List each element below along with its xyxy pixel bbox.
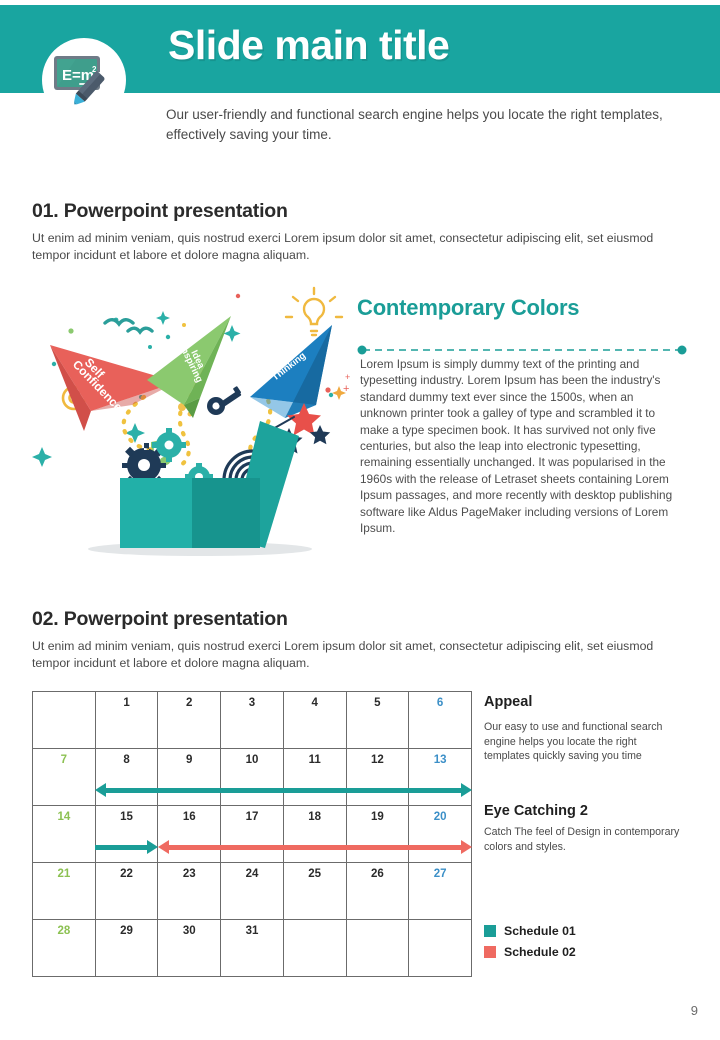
calendar-day-cell[interactable]: 19: [346, 806, 409, 863]
eye-catching-title: Eye Catching 2: [484, 803, 588, 819]
schedule-legend: Schedule 01Schedule 02: [484, 920, 576, 962]
legend-item: Schedule 02: [484, 941, 576, 962]
calendar-day-cell[interactable]: 27: [409, 863, 472, 920]
dashed-divider: [357, 342, 687, 352]
calendar-day-number: 13: [409, 754, 471, 766]
calendar-row: 14151617181920: [33, 806, 472, 863]
calendar-day-number: 17: [221, 811, 283, 823]
arrow-head-right: [147, 840, 158, 854]
calendar-day-number: 5: [347, 697, 409, 709]
calendar-day-number: 27: [409, 868, 471, 880]
calendar-day-cell[interactable]: 23: [158, 863, 221, 920]
schedule-01-bar-row2: [95, 783, 472, 797]
calendar-row: 28293031: [33, 920, 472, 977]
schedule-01-bar-row3: [95, 840, 158, 854]
calendar-day-cell[interactable]: 17: [221, 806, 284, 863]
appeal-title: Appeal: [484, 694, 532, 710]
calendar-day-number: 16: [158, 811, 220, 823]
blackboard-emc2-icon: E=mc 2: [52, 50, 118, 114]
calendar-day-number: 20: [409, 811, 471, 823]
legend-label: Schedule 02: [504, 945, 576, 959]
calendar-day-cell[interactable]: 26: [346, 863, 409, 920]
arrow-head-left: [158, 840, 169, 854]
calendar-day-cell[interactable]: 5: [346, 692, 409, 749]
calendar-day-cell[interactable]: 4: [283, 692, 346, 749]
calendar-day-number: 9: [158, 754, 220, 766]
arrow-shaft: [95, 845, 149, 850]
calendar-day-cell[interactable]: 28: [33, 920, 96, 977]
calendar-day-number: 11: [284, 754, 346, 766]
calendar-day-cell[interactable]: 24: [221, 863, 284, 920]
arrow-head-right: [461, 783, 472, 797]
calendar-day-cell[interactable]: 29: [95, 920, 158, 977]
calendar-day-cell[interactable]: 1: [95, 692, 158, 749]
arrow-shaft: [167, 845, 463, 850]
creative-box-paper-planes-illustration: Self Confidence Inspiring Idea Creative …: [32, 285, 357, 560]
arrow-head-right: [461, 840, 472, 854]
calendar-empty-cell: [346, 920, 409, 977]
schedule-02-bar-row3: [158, 840, 472, 854]
calendar-day-number: 10: [221, 754, 283, 766]
appeal-body: Our easy to use and functional search en…: [484, 720, 684, 764]
calendar-day-number: 26: [347, 868, 409, 880]
calendar-day-number: 14: [33, 811, 95, 823]
eye-catching-body: Catch The feel of Design in contemporary…: [484, 825, 684, 854]
calendar-day-number: 1: [96, 697, 158, 709]
calendar-day-cell[interactable]: 6: [409, 692, 472, 749]
decorative-plus-icon-2: +: [343, 383, 349, 395]
calendar-day-number: 30: [158, 925, 220, 937]
calendar-day-cell[interactable]: 20: [409, 806, 472, 863]
calendar-empty-cell: [409, 920, 472, 977]
section-02-heading: 02. Powerpoint presentation: [32, 608, 288, 631]
calendar-day-cell[interactable]: 2: [158, 692, 221, 749]
calendar-day-cell[interactable]: 7: [33, 749, 96, 806]
section-02-body: Ut enim ad minim veniam, quis nostrud ex…: [32, 638, 692, 672]
section-01-heading: 01. Powerpoint presentation: [32, 200, 288, 223]
page-number: 9: [691, 1003, 698, 1018]
calendar-day-number: 28: [33, 925, 95, 937]
calendar-day-number: 2: [158, 697, 220, 709]
calendar-day-number: 6: [409, 697, 471, 709]
calendar-empty-cell: [283, 920, 346, 977]
calendar-day-number: 31: [221, 925, 283, 937]
calendar-day-cell[interactable]: 14: [33, 806, 96, 863]
calendar-row: 21222324252627: [33, 863, 472, 920]
legend-swatch-icon: [484, 925, 496, 937]
calendar-day-number: 12: [347, 754, 409, 766]
calendar-day-number: 24: [221, 868, 283, 880]
calendar-day-number: 21: [33, 868, 95, 880]
arrow-head-left: [95, 783, 106, 797]
arrow-shaft: [104, 788, 463, 793]
calendar-day-cell[interactable]: 15: [95, 806, 158, 863]
legend-label: Schedule 01: [504, 924, 576, 938]
section-01-body: Ut enim ad minim veniam, quis nostrud ex…: [32, 230, 692, 264]
calendar-day-number: 23: [158, 868, 220, 880]
calendar-day-number: 18: [284, 811, 346, 823]
legend-item: Schedule 01: [484, 920, 576, 941]
calendar-row: 123456: [33, 692, 472, 749]
calendar-day-number: 29: [96, 925, 158, 937]
calendar-empty-cell: [33, 692, 96, 749]
header-subtitle: Our user-friendly and functional search …: [166, 105, 686, 145]
calendar-day-cell[interactable]: 31: [221, 920, 284, 977]
contemporary-colors-title: Contemporary Colors: [357, 295, 579, 321]
legend-swatch-icon: [484, 946, 496, 958]
calendar-day-number: 22: [96, 868, 158, 880]
calendar-day-cell[interactable]: 22: [95, 863, 158, 920]
calendar-day-number: 7: [33, 754, 95, 766]
calendar-day-number: 3: [221, 697, 283, 709]
calendar-day-number: 4: [284, 697, 346, 709]
decorative-plus-icon-1: +: [345, 372, 350, 382]
schedule-calendar[interactable]: 1234567891011121314151617181920212223242…: [32, 691, 472, 977]
calendar-day-number: 25: [284, 868, 346, 880]
contemporary-colors-body: Lorem Ipsum is simply dummy text of the …: [360, 356, 678, 536]
calendar-day-cell[interactable]: 21: [33, 863, 96, 920]
calendar-day-cell[interactable]: 30: [158, 920, 221, 977]
calendar-day-number: 8: [96, 754, 158, 766]
calendar-day-number: 19: [347, 811, 409, 823]
calendar-day-cell[interactable]: 3: [221, 692, 284, 749]
calendar-day-cell[interactable]: 18: [283, 806, 346, 863]
calendar-day-number: 15: [96, 811, 158, 823]
page-title: Slide main title: [168, 22, 449, 69]
calendar-day-cell[interactable]: 16: [158, 806, 221, 863]
calendar-day-cell[interactable]: 25: [283, 863, 346, 920]
